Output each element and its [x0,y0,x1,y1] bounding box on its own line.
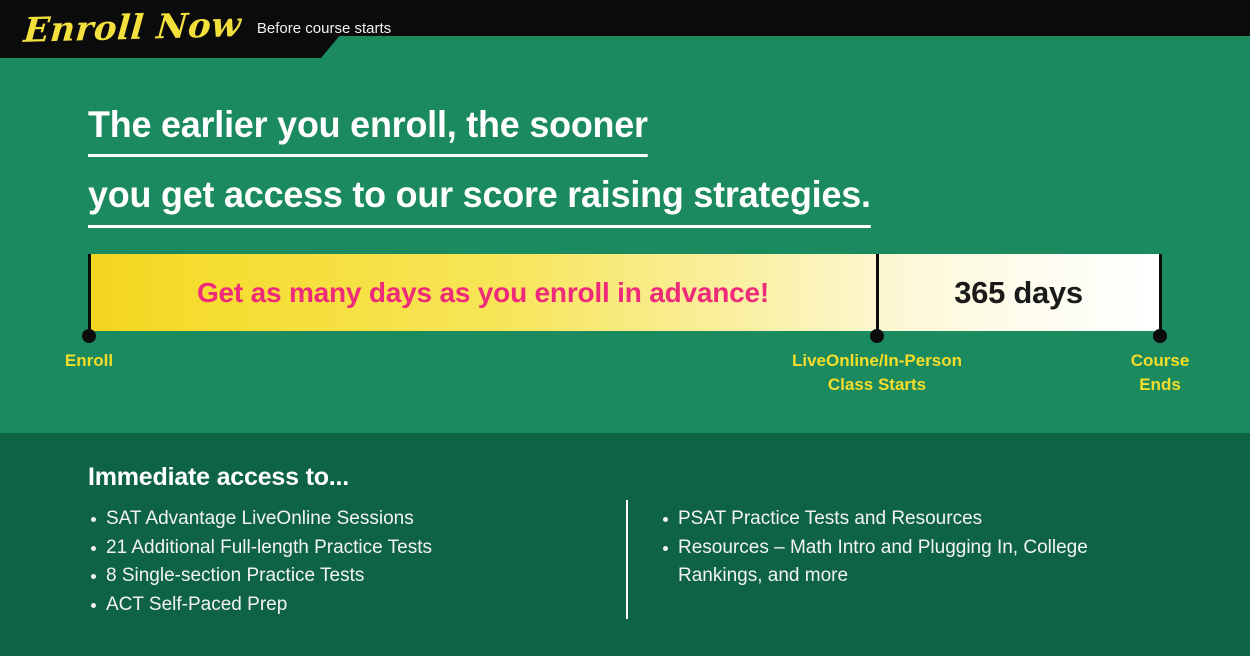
list-item: ACT Self-Paced Prep [88,591,608,620]
timeline-caption-class-starts: LiveOnline/In-Person Class Starts [727,349,1027,397]
timeline-marker-course-ends [1153,254,1167,343]
benefits-column-right: PSAT Practice Tests and Resources Resour… [660,505,1130,591]
timeline-caption-enroll: Enroll [9,349,169,373]
column-divider [626,500,628,619]
timeline-marker-class-starts [870,254,884,343]
marker-stem [1159,254,1162,334]
list-item: 21 Additional Full-length Practice Tests [88,534,608,563]
marker-dot-icon [870,329,884,343]
timeline-caption-course-ends: Course Ends [1080,349,1240,397]
marker-stem [876,254,879,334]
enrollment-timeline: Get as many days as you enroll in advanc… [0,0,1250,433]
immediate-access-title: Immediate access to... [88,463,349,492]
timeline-promo-text: Get as many days as you enroll in advanc… [89,254,877,331]
list-item: 8 Single-section Practice Tests [88,562,608,591]
benefits-list-right: PSAT Practice Tests and Resources Resour… [660,505,1130,591]
list-item: Resources – Math Intro and Plugging In, … [660,534,1130,591]
list-item: PSAT Practice Tests and Resources [660,505,1130,534]
marker-dot-icon [82,329,96,343]
timeline-marker-enroll [82,254,96,343]
benefits-list-left: SAT Advantage LiveOnline Sessions 21 Add… [88,505,608,619]
marker-stem [88,254,91,334]
timeline-days-text: 365 days [877,254,1160,331]
marker-dot-icon [1153,329,1167,343]
benefits-column-left: SAT Advantage LiveOnline Sessions 21 Add… [88,505,608,619]
promo-page: Enroll Now Before course starts The earl… [0,0,1250,656]
list-item: SAT Advantage LiveOnline Sessions [88,505,608,534]
